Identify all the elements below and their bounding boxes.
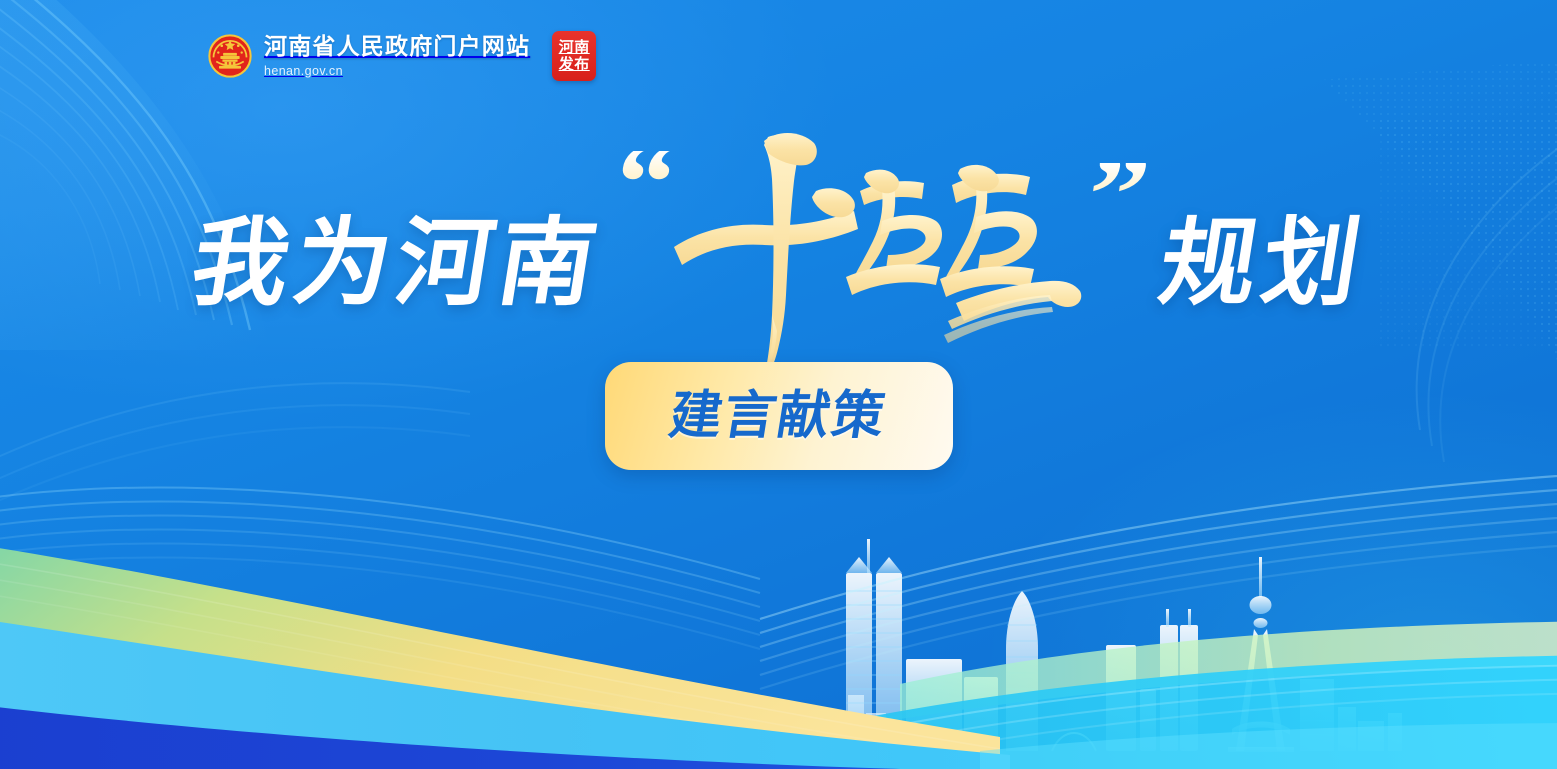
- arch-bridge: [1052, 731, 1096, 751]
- site-url: henan.gov.cn: [264, 65, 530, 78]
- hero-section: 我为河南 “: [0, 112, 1557, 542]
- submit-suggestion-button[interactable]: 建言献策: [605, 362, 953, 470]
- quote-close-mark: ”: [1083, 163, 1151, 228]
- cta-button-label: 建言献策: [666, 390, 890, 442]
- skyline-right-lowrise: [1300, 679, 1402, 751]
- promo-banner: 河南省人民政府门户网站 henan.gov.cn 河南 发布 我为河南 “: [0, 0, 1557, 769]
- wave-band-cyan-right: [820, 655, 1557, 769]
- wave-band-gold: [0, 545, 1000, 769]
- wave-band-deep-blue: [0, 705, 900, 769]
- wave-hatch-cyan-right: [840, 665, 1557, 765]
- wave-band-cyan-left: [0, 619, 1010, 769]
- calligraphy-shiwuwu: [668, 125, 1092, 375]
- release-badge-line1: 河南: [559, 40, 590, 56]
- headline-left-text: 我为河南: [185, 216, 608, 312]
- corn-tower: [1006, 591, 1038, 751]
- corn-tower-banding: [1006, 625, 1038, 737]
- wave-band-mint: [900, 621, 1557, 719]
- zhengzhou-skyline-illustration: [0, 529, 1557, 769]
- henan-release-badge[interactable]: 河南 发布: [552, 31, 596, 81]
- tv-tower: [1228, 557, 1294, 752]
- quoted-emphasis-group: “: [615, 125, 1147, 375]
- twin-towers: [846, 539, 916, 757]
- right-lowrise-banding: [1300, 693, 1334, 735]
- site-header: 河南省人民政府门户网站 henan.gov.cn 河南 发布: [0, 0, 1557, 112]
- china-national-emblem-icon: [208, 34, 252, 78]
- headline-right-text: 规划: [1153, 216, 1372, 312]
- site-brand-link[interactable]: 河南省人民政府门户网站 henan.gov.cn: [208, 34, 530, 78]
- release-badge-line2: 发布: [559, 57, 590, 73]
- skyline-left-lowrise: [712, 695, 886, 751]
- wave-hatch-gold: [0, 561, 1000, 769]
- skyline-mid-block: [906, 659, 998, 751]
- skyline-right-blocks: [1106, 609, 1198, 751]
- site-title: 河南省人民政府门户网站: [264, 35, 530, 58]
- brand-text-block: 河南省人民政府门户网站 henan.gov.cn: [264, 35, 530, 78]
- headline: 我为河南 “: [0, 112, 1557, 380]
- cta-wrapper: 建言献策: [0, 362, 1557, 470]
- wave-glow-bottom-right: [980, 723, 1557, 769]
- twin-towers-banding: [846, 591, 902, 731]
